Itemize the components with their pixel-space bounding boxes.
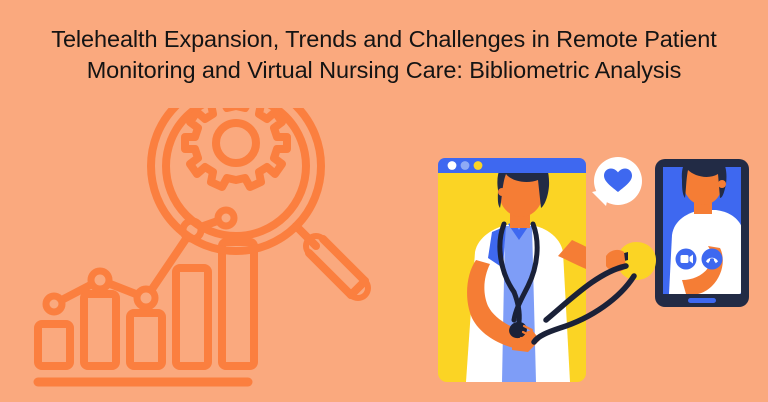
window-dot-white: [448, 161, 457, 170]
browser-titlebar-foot: [438, 166, 586, 173]
chart-bar-1: [38, 324, 70, 366]
page-title-line-2: Monitoring and Virtual Nursing Care: Bib…: [24, 55, 744, 86]
window-dot-yellow: [474, 161, 483, 170]
phone-home-indicator: [688, 298, 716, 303]
chart-bar-3: [130, 313, 162, 366]
trend-marker-3: [137, 289, 155, 307]
blood-pressure-cuff: [606, 242, 656, 280]
heart-speech-bubble: [592, 157, 642, 206]
page-title-line-1: Telehealth Expansion, Trends and Challen…: [24, 24, 744, 55]
gear-icon: [185, 108, 287, 187]
smartphone: [655, 152, 749, 307]
growth-chart-magnifier-illustration: [24, 108, 400, 392]
chart-bar-5: [222, 242, 254, 366]
trend-marker-2: [91, 271, 109, 289]
telehealth-scene-illustration: [420, 140, 756, 392]
patient-ear: [718, 180, 726, 188]
trend-marker-1: [46, 296, 62, 312]
trend-marker-5: [218, 210, 234, 226]
page-title: Telehealth Expansion, Trends and Challen…: [0, 24, 768, 86]
video-camera-icon: [681, 255, 694, 264]
banner-root: Telehealth Expansion, Trends and Challen…: [0, 0, 768, 402]
doctor-ear: [498, 188, 506, 196]
window-dot-light-blue: [461, 161, 470, 170]
end-call-button[interactable]: [702, 249, 723, 270]
chart-bar-4: [176, 268, 208, 366]
chart-bar-2: [84, 294, 116, 366]
gear-hub: [216, 123, 256, 163]
